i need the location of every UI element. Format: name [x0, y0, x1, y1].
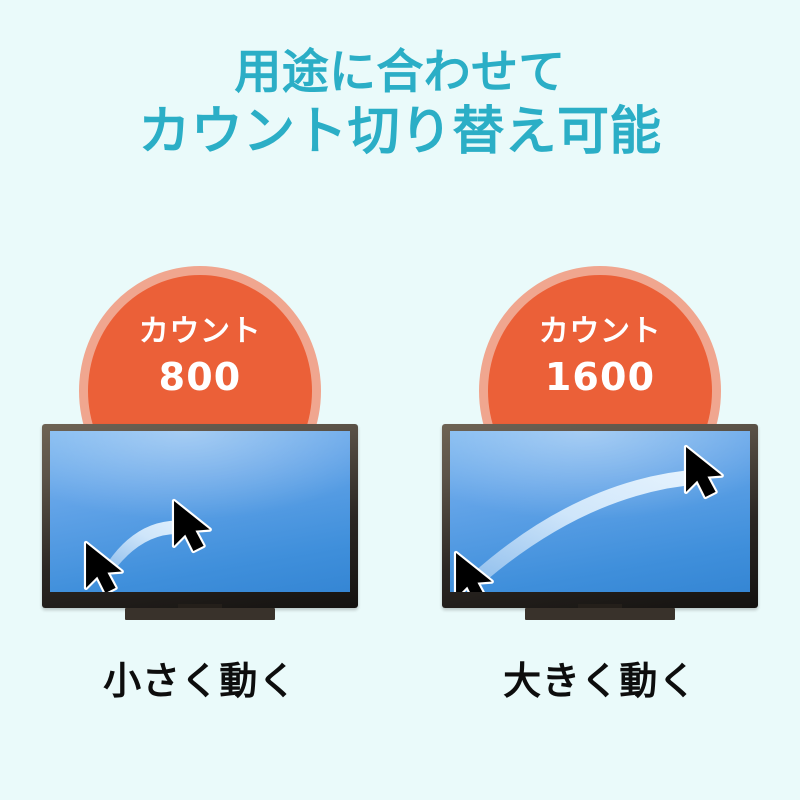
badge-value: 1600	[545, 353, 655, 402]
cursor-motion-illustration-long	[450, 431, 750, 592]
monitor-stand	[125, 608, 275, 620]
panel-high-dpi: カウント 1600	[400, 0, 800, 800]
monitor-low-dpi	[42, 424, 358, 608]
monitor-high-dpi	[442, 424, 758, 608]
monitor-stand	[525, 608, 675, 620]
cursor-arrow-end	[686, 447, 722, 497]
cursor-arrow-end	[174, 501, 210, 551]
cursor-arrow-start	[86, 543, 122, 592]
panel-low-dpi: カウント 800	[0, 0, 400, 800]
motion-trail-long	[474, 469, 702, 579]
caption-high-dpi: 大きく動く	[400, 650, 800, 705]
cursor-motion-illustration-short	[50, 431, 350, 592]
badge-value: 800	[159, 353, 242, 402]
badge-label: カウント	[139, 313, 261, 351]
badge-label: カウント	[539, 313, 661, 351]
monitor-screen	[450, 431, 750, 592]
monitor-screen	[50, 431, 350, 592]
caption-low-dpi: 小さく動く	[0, 650, 400, 705]
